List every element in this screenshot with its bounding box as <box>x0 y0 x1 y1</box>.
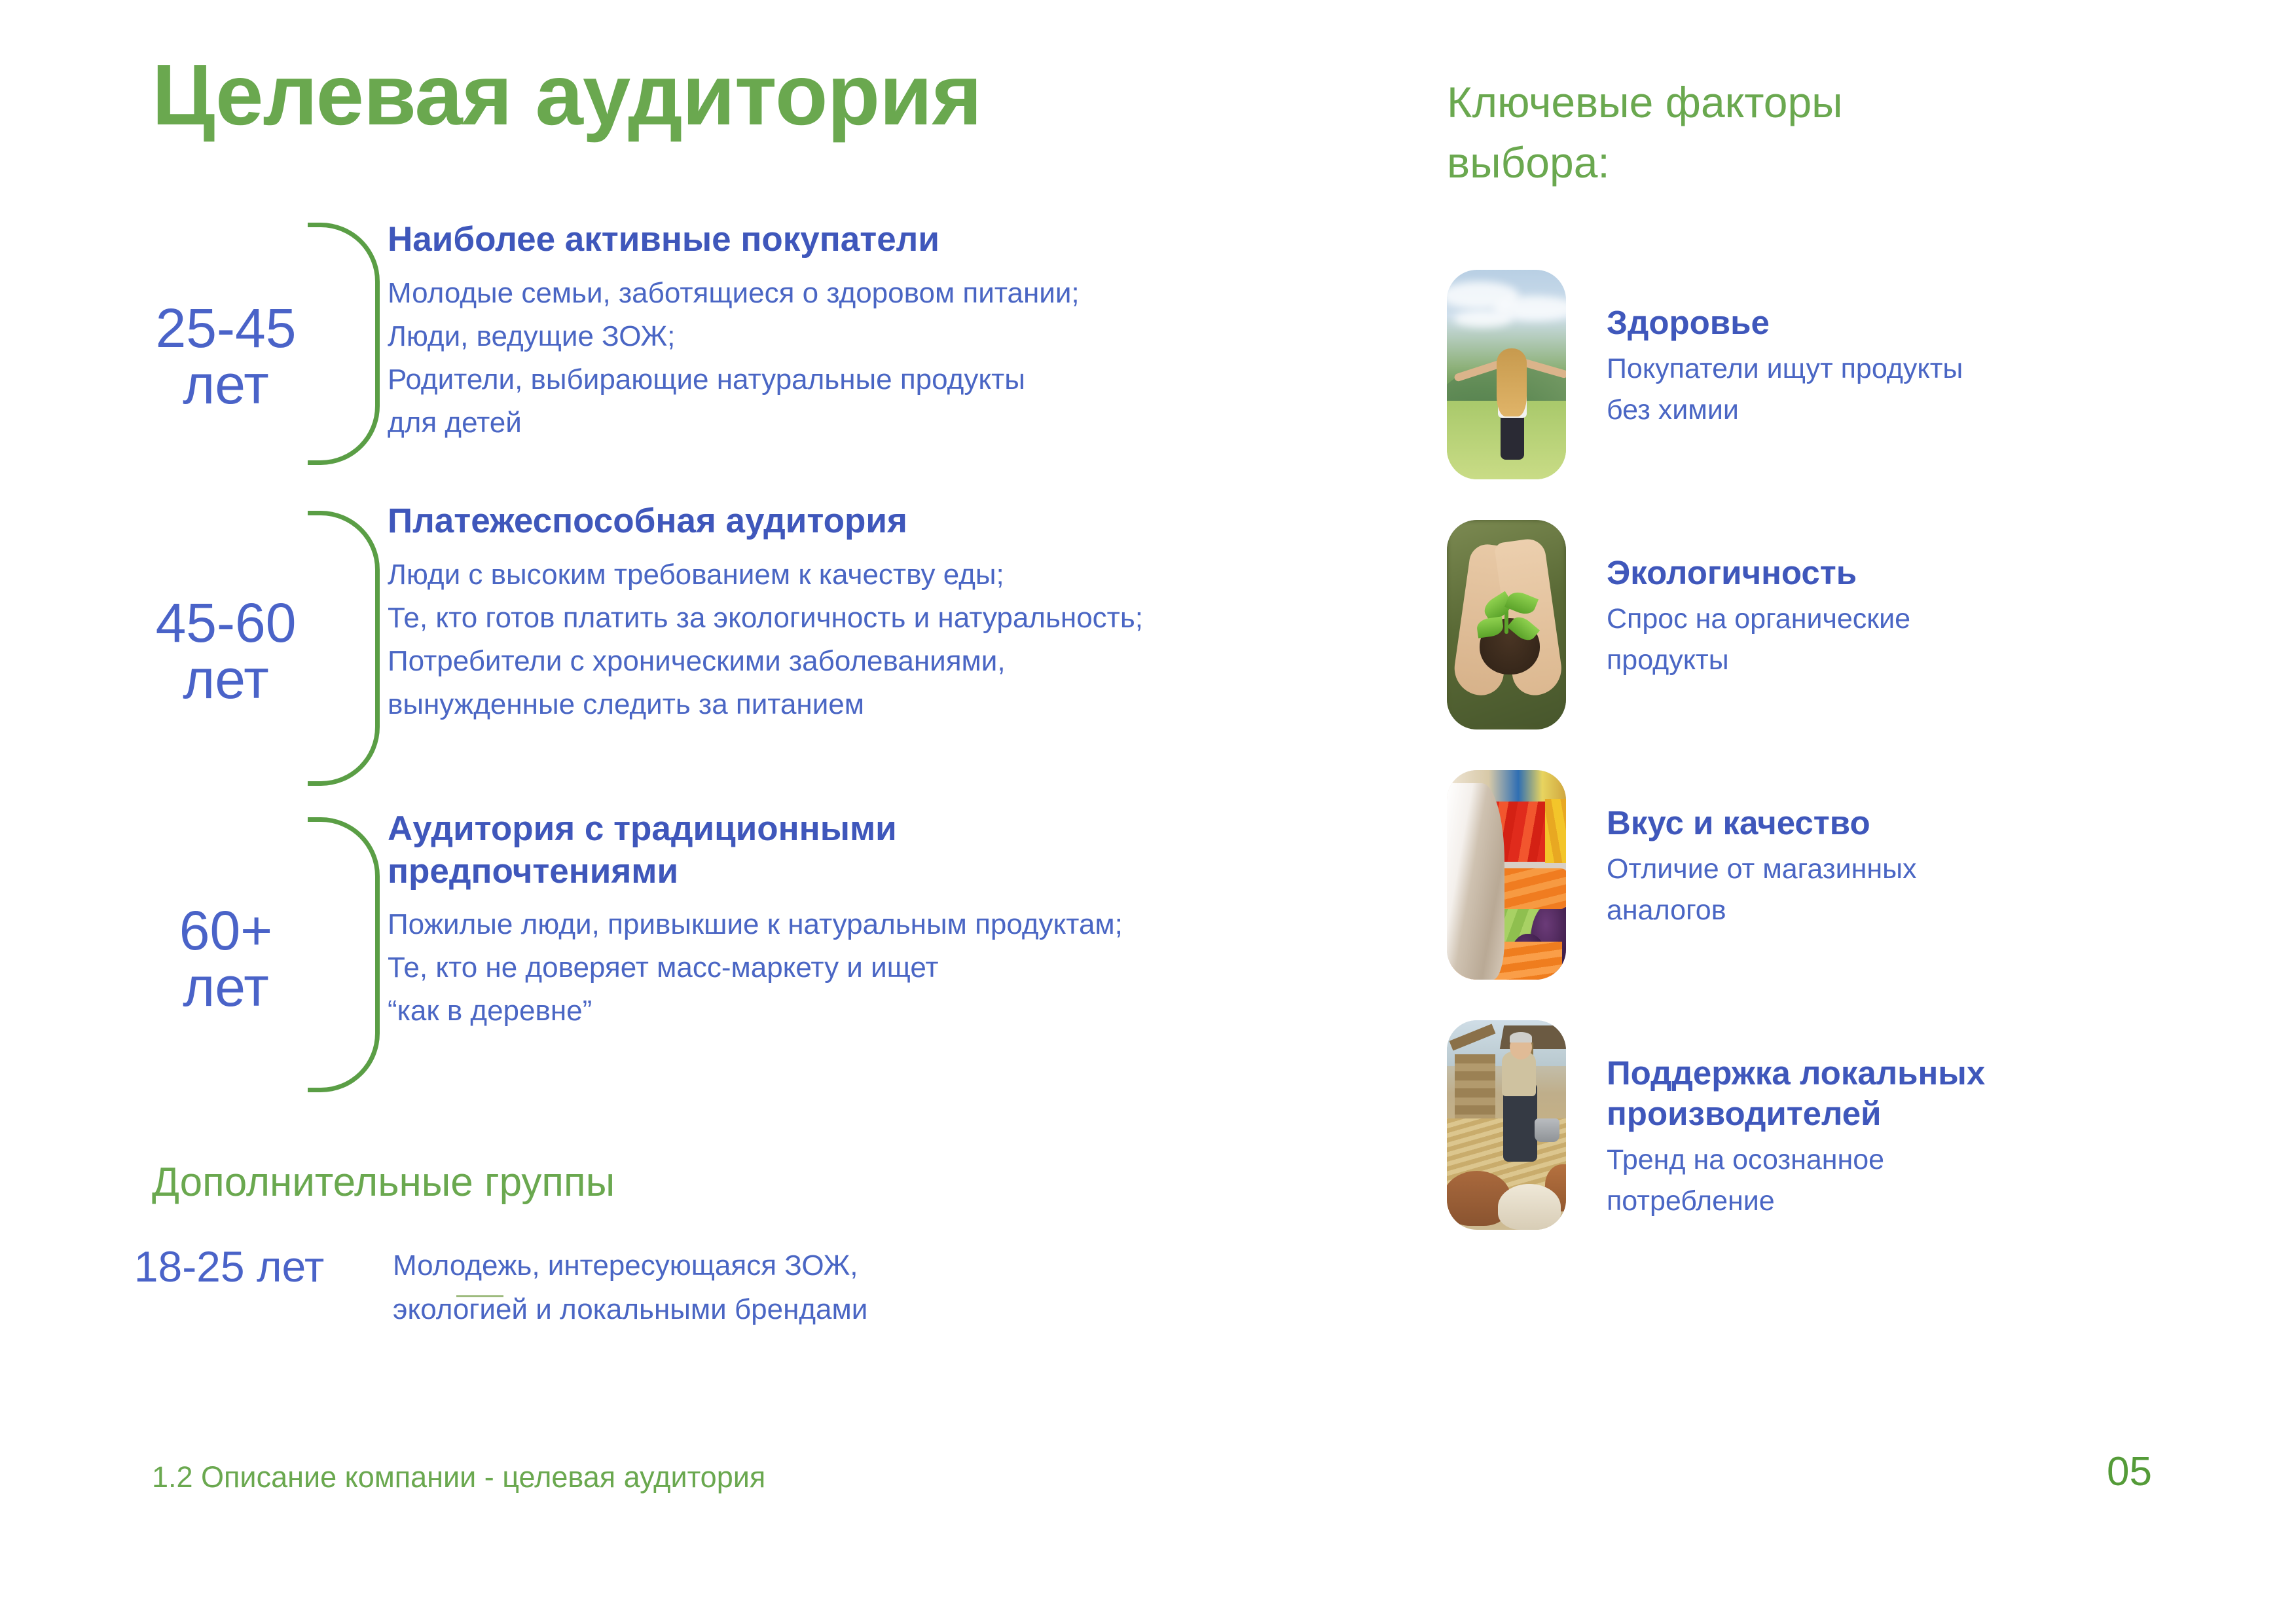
factor-text: Здоровье Покупатели ищут продукты без хи… <box>1607 270 2180 431</box>
factor-item: Поддержка локальных производителей Тренд… <box>1447 1020 2180 1230</box>
description-line: вынужденные следить за питанием <box>388 683 1362 726</box>
hands-holding-seedling-photo <box>1447 520 1566 729</box>
age-range-unit: лет <box>257 1242 324 1291</box>
age-group-row: 60+ лет Аудитория с традиционными предпо… <box>131 805 1362 1113</box>
age-range-number: 60+ <box>131 903 321 959</box>
photo-artwork <box>1447 520 1566 729</box>
description-line: без химии <box>1607 390 2180 431</box>
age-group-row: 25-45 лет Наиболее активные покупатели М… <box>131 216 1362 498</box>
factor-text: Вкус и качество Отличие от магазинных ан… <box>1607 770 2180 931</box>
heading-line: Аудитория с традиционными <box>388 808 1362 851</box>
age-group-description: Люди с высоким требованием к качеству ед… <box>388 553 1362 726</box>
factor-heading: Поддержка локальных производителей <box>1607 1053 2180 1134</box>
age-group-heading: Аудитория с традиционными предпочтениями <box>388 808 1362 893</box>
title-line: выбора: <box>1447 132 2069 193</box>
age-group-body: Наиболее активные покупатели Молодые сем… <box>388 216 1362 445</box>
factor-item: Вкус и качество Отличие от магазинных ан… <box>1447 770 2180 980</box>
description-line: Пожилые люди, привыкшие к натуральным пр… <box>388 903 1362 946</box>
factor-description: Тренд на осознанное потребление <box>1607 1139 2180 1222</box>
photo-artwork <box>1447 1020 1566 1230</box>
market-vegetables-photo <box>1447 770 1566 980</box>
title-line: Ключевые факторы <box>1447 72 2069 132</box>
description-line: Люди с высоким требованием к качеству ед… <box>388 553 1362 597</box>
additional-group-row: 18-25 лет Молодежь, интересующаяся ЗОЖ, … <box>131 1244 867 1332</box>
curly-brace-icon <box>308 511 380 786</box>
page-title: Целевая аудитория <box>152 47 981 142</box>
age-group-body: Платежеспособная аудитория Люди с высоки… <box>388 498 1362 726</box>
factor-item: Экологичность Спрос на органические прод… <box>1447 520 2180 729</box>
factor-heading: Вкус и качество <box>1607 803 2180 843</box>
description-line: для детей <box>388 401 1362 445</box>
photo-artwork <box>1447 770 1566 980</box>
heading-line: предпочтениями <box>388 851 1362 893</box>
footer-note: 1.2 Описание компании - целевая аудитори… <box>152 1460 765 1494</box>
factor-text: Экологичность Спрос на органические прод… <box>1607 520 2180 681</box>
age-group-description: Пожилые люди, привыкшие к натуральным пр… <box>388 903 1362 1033</box>
additional-groups-title: Дополнительные группы <box>152 1159 615 1206</box>
description-line: Отличие от магазинных <box>1607 849 2180 890</box>
curly-brace-icon <box>308 817 380 1092</box>
factor-description: Спрос на органические продукты <box>1607 599 2180 681</box>
description-line: Те, кто готов платить за экологичность и… <box>388 597 1362 640</box>
age-range-number: 25-45 <box>131 301 321 357</box>
age-range-number: 18-25 <box>134 1242 245 1291</box>
age-range-label: 18-25 лет <box>131 1244 327 1289</box>
key-factors-list: Здоровье Покупатели ищут продукты без хи… <box>1447 270 2180 1230</box>
factor-description: Отличие от магазинных аналогов <box>1607 849 2180 931</box>
age-group-heading: Наиболее активные покупатели <box>388 219 1362 261</box>
description-line: Родители, выбирающие натуральные продукт… <box>388 358 1362 401</box>
photo-artwork <box>1447 270 1566 479</box>
description-line: Молодые семьи, заботящиеся о здоровом пи… <box>388 272 1362 315</box>
description-line: Люди, ведущие ЗОЖ; <box>388 315 1362 358</box>
description-line: Покупатели ищут продукты <box>1607 348 2180 390</box>
description-line: аналогов <box>1607 890 2180 931</box>
heading-line: производителей <box>1607 1094 2180 1134</box>
description-line: Потребители с хроническими заболеваниями… <box>388 640 1362 683</box>
heading-line: Поддержка локальных <box>1607 1053 2180 1094</box>
description-line: Те, кто не доверяет масс-маркету и ищет <box>388 946 1362 989</box>
age-group-heading: Платежеспособная аудитория <box>388 500 1362 543</box>
description-line: потребление <box>1607 1181 2180 1222</box>
description-line: продукты <box>1607 640 2180 681</box>
farmer-with-livestock-photo <box>1447 1020 1566 1230</box>
age-group-body: Аудитория с традиционными предпочтениями… <box>388 805 1362 1033</box>
age-group-row: 45-60 лет Платежеспособная аудитория Люд… <box>131 498 1362 805</box>
woman-in-field-photo <box>1447 270 1566 479</box>
age-range-number: 45-60 <box>131 595 321 652</box>
factor-item: Здоровье Покупатели ищут продукты без хи… <box>1447 270 2180 479</box>
divider-line <box>456 1295 503 1297</box>
slide-target-audience: Целевая аудитория 25-45 лет Наиболее акт… <box>0 0 2296 1624</box>
page-number: 05 <box>2107 1449 2152 1495</box>
key-factors-title: Ключевые факторы выбора: <box>1447 72 2069 193</box>
description-line: Тренд на осознанное <box>1607 1139 2180 1181</box>
additional-group-description: Молодежь, интересующаяся ЗОЖ, экологией … <box>393 1244 867 1332</box>
description-line: экологией и локальными брендами <box>393 1288 867 1332</box>
description-line: “как в деревне” <box>388 989 1362 1033</box>
age-range-unit: лет <box>131 652 321 708</box>
curly-brace-icon <box>308 223 380 465</box>
factor-description: Покупатели ищут продукты без химии <box>1607 348 2180 431</box>
age-range-unit: лет <box>131 959 321 1016</box>
factor-text: Поддержка локальных производителей Тренд… <box>1607 1020 2180 1222</box>
age-groups-list: 25-45 лет Наиболее активные покупатели М… <box>131 216 1362 1113</box>
description-line: Молодежь, интересующаяся ЗОЖ, <box>393 1244 867 1288</box>
age-group-description: Молодые семьи, заботящиеся о здоровом пи… <box>388 272 1362 445</box>
factor-heading: Здоровье <box>1607 303 2180 343</box>
description-line: Спрос на органические <box>1607 599 2180 640</box>
factor-heading: Экологичность <box>1607 553 2180 593</box>
age-range-unit: лет <box>131 357 321 413</box>
